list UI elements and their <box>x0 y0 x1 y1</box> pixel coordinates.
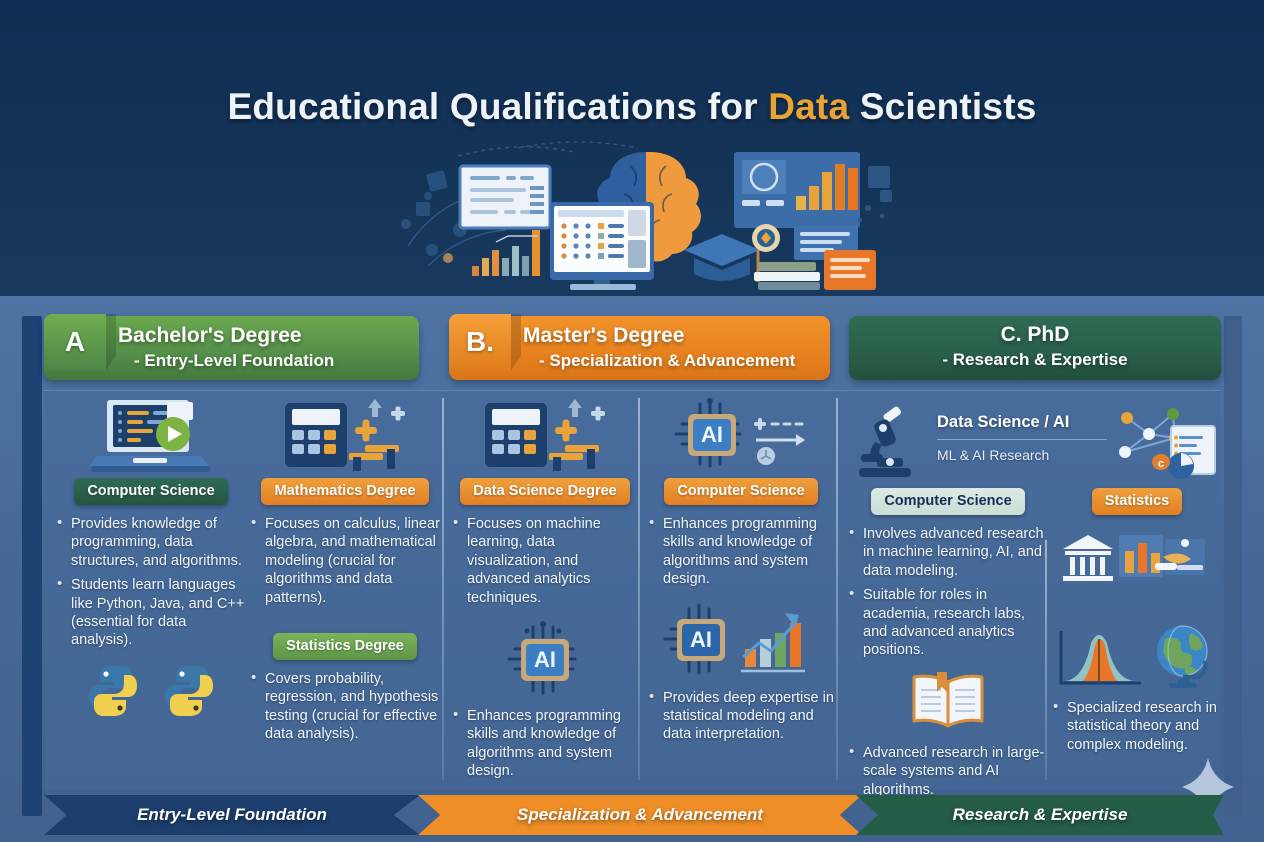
column-bachelor-mathematics: Mathematics Degree Focuses on calculus, … <box>250 392 440 792</box>
column-divider <box>638 398 640 780</box>
section-subtitle-master: - Specialization & Advancement <box>523 350 822 372</box>
bullet-list: Enhances programming skills and knowledg… <box>648 515 834 589</box>
banner-research[interactable]: Research & Expertise <box>856 795 1224 835</box>
column-divider <box>836 398 838 780</box>
list-item: Provides deep expertise in statistical m… <box>648 689 834 744</box>
phase-banner-row: Entry-Level Foundation Specialization & … <box>44 795 1224 837</box>
bell-curve-globe-icon <box>1052 623 1222 691</box>
bullet-list-secondary: Enhances programming skills and knowledg… <box>452 707 638 781</box>
section-subtitle-phd: - Research & Expertise <box>849 349 1221 371</box>
banner-label: Specialization & Advancement <box>517 805 763 825</box>
section-subtitle-bachelor: - Entry-Level Foundation <box>118 350 411 372</box>
column-master-computer-science: AI Computer Science Enhances programming… <box>648 392 834 792</box>
section-header-bachelor[interactable]: A Bachelor's Degree - Entry-Level Founda… <box>44 316 419 380</box>
label-data-science-degree[interactable]: Data Science Degree <box>460 478 629 505</box>
list-item: Specialized research in statistical theo… <box>1052 699 1222 754</box>
svg-text:AI: AI <box>534 647 556 672</box>
calculator-math-icon <box>452 392 638 478</box>
label-statistics-degree[interactable]: Statistics Degree <box>273 633 417 660</box>
label-computer-science[interactable]: Computer Science <box>74 478 227 505</box>
column-bachelor-computer-science: Computer Science Provides knowledge of p… <box>56 392 246 792</box>
bullet-list-secondary: Covers probability, regression, and hypo… <box>250 670 440 744</box>
bullet-list: Focuses on calculus, linear algebra, and… <box>250 515 440 607</box>
list-item: Provides knowledge of programming, data … <box>56 515 246 570</box>
list-item: Suitable for roles in academia, research… <box>848 586 1048 660</box>
list-item: Advanced research in large-scale systems… <box>848 744 1048 799</box>
banner-label: Entry-Level Foundation <box>137 805 327 825</box>
section-header-phd[interactable]: C. PhD - Research & Expertise <box>849 316 1221 380</box>
column-phd-computer-science: Computer Science Involves advanced resea… <box>848 392 1048 792</box>
right-rail <box>1224 316 1242 816</box>
list-item: Students learn languages like Python, Ja… <box>56 576 246 650</box>
label-statistics[interactable]: Statistics <box>1092 488 1182 515</box>
list-item: Enhances programming skills and knowledg… <box>648 515 834 589</box>
data-science-hero-illustration <box>398 138 898 290</box>
laptop-code-icon <box>56 392 246 478</box>
bullet-list: Specialized research in statistical theo… <box>1052 699 1222 754</box>
bullet-list: Focuses on machine learning, data visual… <box>452 515 638 607</box>
list-item: Involves advanced research in machine le… <box>848 525 1048 580</box>
list-item: Focuses on machine learning, data visual… <box>452 515 638 607</box>
bullet-list-secondary: Advanced research in large-scale systems… <box>848 744 1048 799</box>
bullet-list: Involves advanced research in machine le… <box>848 525 1048 660</box>
left-rail <box>22 316 42 816</box>
open-book-icon <box>848 670 1048 732</box>
title-accent: Data <box>768 86 849 127</box>
python-logos-icon <box>56 662 246 720</box>
bullet-list: Provides knowledge of programming, data … <box>56 515 246 650</box>
title-part-2: Scientists <box>849 86 1036 127</box>
banner-specialization[interactable]: Specialization & Advancement <box>418 795 862 835</box>
label-mathematics-degree[interactable]: Mathematics Degree <box>261 478 428 505</box>
section-badge-a: A <box>44 314 106 370</box>
section-title-bachelor: Bachelor's Degree <box>118 323 411 348</box>
banner-label: Research & Expertise <box>953 805 1128 825</box>
calculator-math-icon <box>250 392 440 478</box>
list-item: Focuses on calculus, linear algebra, and… <box>250 515 440 607</box>
banner-entry-level[interactable]: Entry-Level Foundation <box>44 795 420 835</box>
section-badge-b: B. <box>449 314 511 370</box>
column-phd-statistics: Statistics <box>1052 392 1222 792</box>
label-computer-science-phd[interactable]: Computer Science <box>871 488 1024 515</box>
list-item: Covers probability, regression, and hypo… <box>250 670 440 744</box>
section-header-master[interactable]: B. Master's Degree - Specialization & Ad… <box>449 316 830 380</box>
hero-banner: Educational Qualifications for Data Scie… <box>0 0 1264 296</box>
ai-chip-growth-chart-icon: AI <box>648 603 834 679</box>
label-computer-science-master[interactable]: Computer Science <box>664 478 817 505</box>
list-item: Enhances programming skills and knowledg… <box>452 707 638 781</box>
title-part-1: Educational Qualifications for <box>228 86 769 127</box>
section-title-phd: C. PhD <box>849 322 1221 347</box>
institution-chart-icon <box>1052 533 1222 589</box>
svg-text:AI: AI <box>701 422 723 447</box>
bullet-list-secondary: Provides deep expertise in statistical m… <box>648 689 834 744</box>
ai-chip-arrows-icon: AI <box>648 392 834 478</box>
column-master-data-science: Data Science Degree Focuses on machine l… <box>452 392 638 792</box>
page-title: Educational Qualifications for Data Scie… <box>0 86 1264 128</box>
section-title-master: Master's Degree <box>523 323 822 348</box>
svg-text:AI: AI <box>690 627 712 652</box>
column-divider <box>442 398 444 780</box>
ai-chip-icon: AI <box>452 621 638 697</box>
